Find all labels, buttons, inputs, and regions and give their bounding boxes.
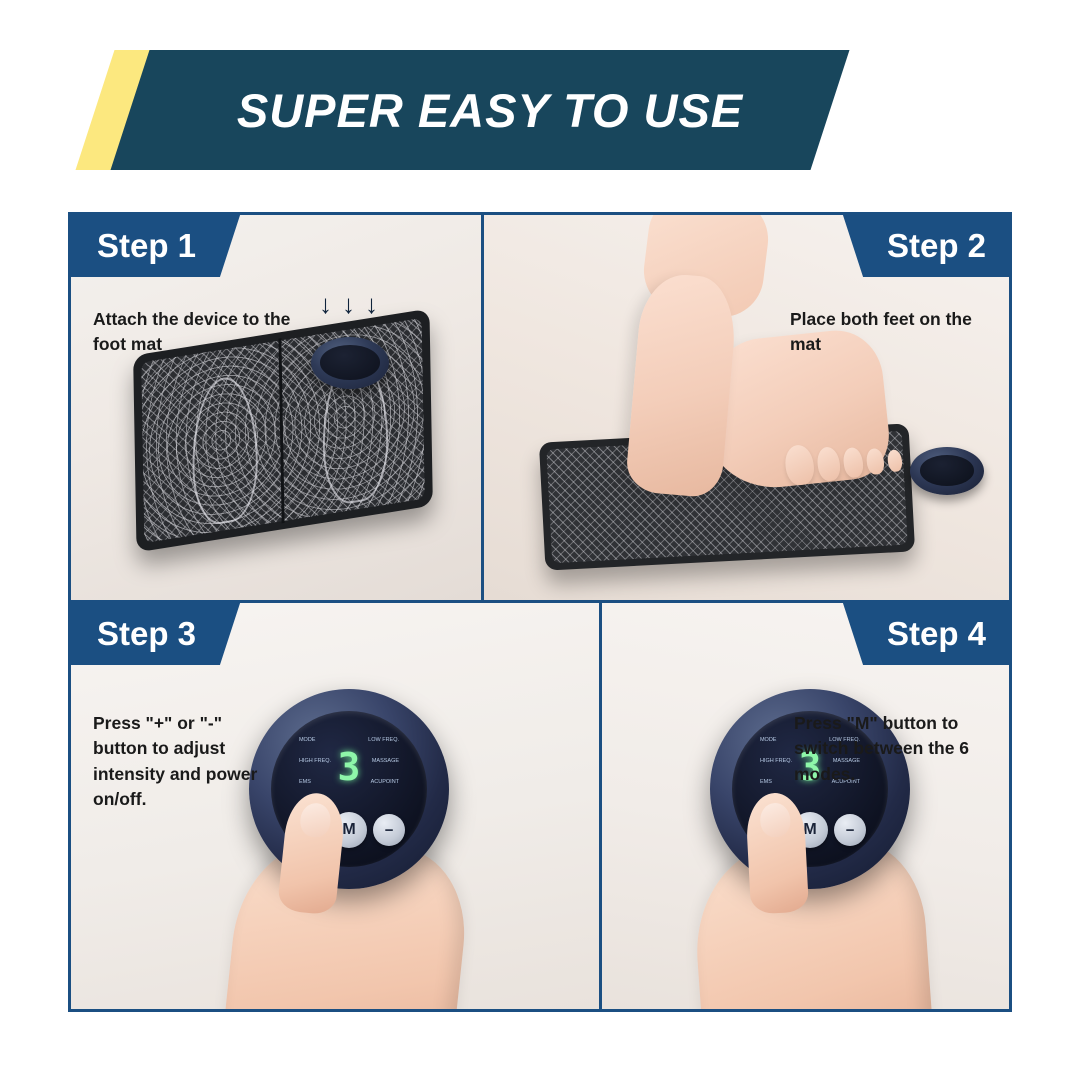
control-puck-step-2: [910, 447, 984, 495]
fingernail: [299, 802, 332, 839]
step-panel-3: MODE LOW FREQ. HIGH FREQ. MASSAGE EMS AC…: [71, 603, 599, 1012]
toe-second: [815, 446, 842, 483]
toe-fourth: [865, 447, 885, 475]
step-4-caption: Press "M" button to switch between the 6…: [794, 711, 994, 787]
control-puck-face: [320, 345, 379, 379]
step-2-label: Step 2: [887, 227, 986, 265]
minus-button[interactable]: −: [373, 814, 405, 846]
step-2-caption: Place both feet on the mat: [790, 307, 990, 358]
page-title: SUPER EASY TO USE: [180, 50, 800, 170]
step-4-flag: Step 4: [843, 603, 1012, 665]
down-arrow-icon: ↓: [342, 291, 355, 317]
step-1-flag: Step 1: [71, 215, 240, 277]
attach-direction-arrows: ↓ ↓ ↓: [319, 291, 378, 317]
step-panel-1: ↓ ↓ ↓ Step 1 Attach the device to the fo…: [71, 215, 481, 600]
down-arrow-icon: ↓: [319, 291, 332, 317]
footprint-outline-left: [191, 372, 259, 528]
step-panel-2: Step 2 Place both feet on the mat: [484, 215, 1012, 600]
control-puck-step-1: [311, 337, 389, 389]
step-2-flag: Step 2: [843, 215, 1012, 277]
step-1-label: Step 1: [97, 227, 196, 265]
step-3-label: Step 3: [97, 615, 196, 653]
step-4-label: Step 4: [887, 615, 986, 653]
foot-left-image: [625, 271, 740, 499]
toe-big: [783, 443, 816, 486]
controller-step-3: MODE LOW FREQ. HIGH FREQ. MASSAGE EMS AC…: [249, 689, 449, 889]
toe-third: [842, 446, 865, 478]
step-1-caption: Attach the device to the foot mat: [93, 307, 293, 358]
step-3-flag: Step 3: [71, 603, 240, 665]
step-panel-4: MODE LOW FREQ. HIGH FREQ. MASSAGE EMS AC…: [602, 603, 1012, 1012]
step-3-caption: Press "+" or "-" button to adjust intens…: [93, 711, 273, 813]
intensity-level-value-step-3: 3: [338, 748, 361, 786]
toe-little: [887, 449, 904, 473]
control-puck-face-step-2: [920, 455, 975, 486]
minus-button[interactable]: −: [834, 814, 866, 846]
fingernail: [759, 802, 791, 838]
header-banner: SUPER EASY TO USE: [0, 40, 1080, 170]
steps-collage: ↓ ↓ ↓ Step 1 Attach the device to the fo…: [68, 212, 1012, 1012]
controller-display-step-3: MODE LOW FREQ. HIGH FREQ. MASSAGE EMS AC…: [296, 736, 402, 798]
down-arrow-icon: ↓: [365, 291, 378, 317]
